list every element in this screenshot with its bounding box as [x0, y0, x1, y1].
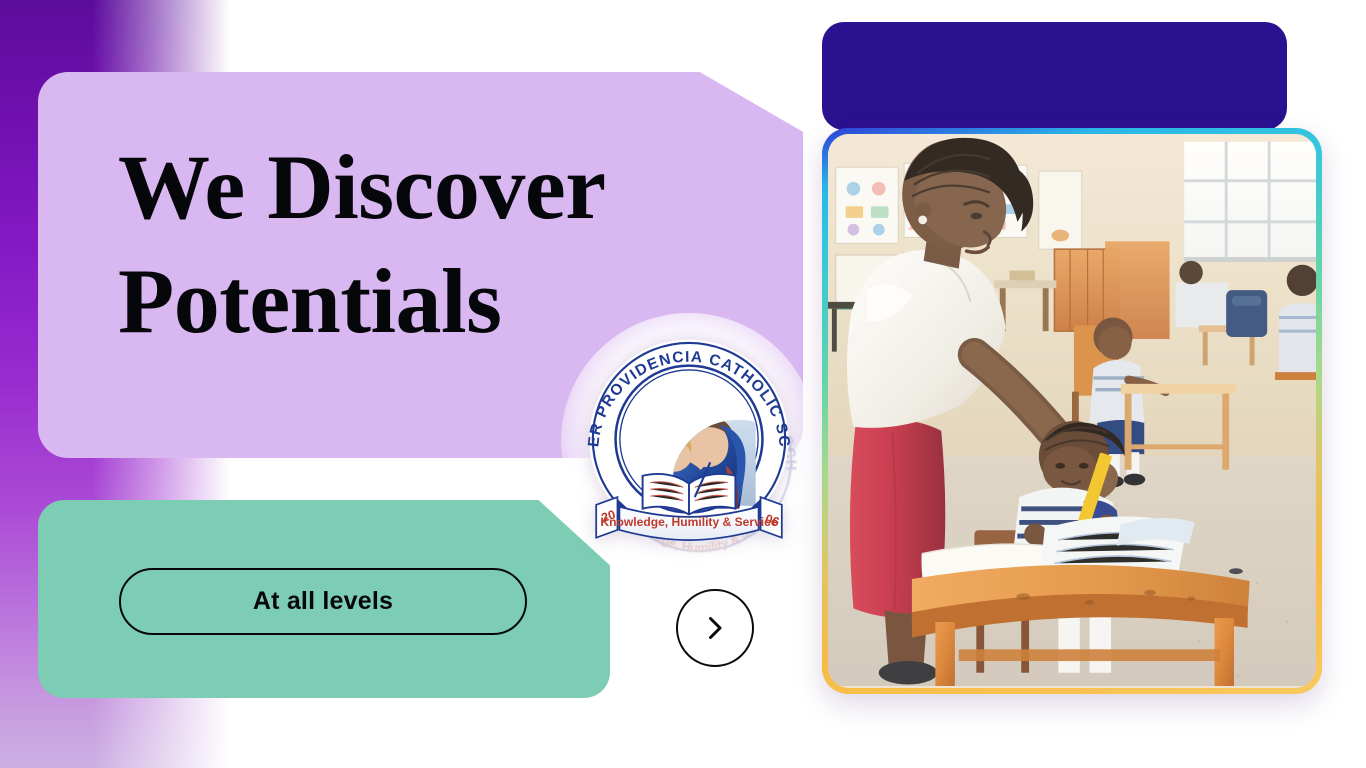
school-crest-logo: MOTHER PROVIDENCIA CATHOLIC SCHOOL Knowl…: [573, 325, 805, 557]
cta-card: At all levels: [38, 500, 610, 698]
next-slide-button[interactable]: [676, 589, 754, 667]
photo-frame: Teacher in a white blouse and red skirt …: [822, 128, 1322, 694]
chevron-right-icon: [698, 611, 732, 645]
crest-motto: Knowledge, Humility & Service: [600, 515, 777, 529]
crest-artwork: MOTHER PROVIDENCIA CATHOLIC SCHOOL: [573, 325, 805, 557]
page-title: We Discover Potentials: [118, 130, 758, 358]
indigo-caption-panel: [822, 22, 1287, 130]
classroom-photo: Teacher in a white blouse and red skirt …: [828, 134, 1316, 686]
at-all-levels-button[interactable]: At all levels: [119, 568, 527, 635]
headline-line-1: We Discover: [118, 130, 758, 244]
photo-container: Teacher in a white blouse and red skirt …: [828, 134, 1316, 688]
slide-canvas: We Discover Potentials At all levels M: [0, 0, 1366, 768]
